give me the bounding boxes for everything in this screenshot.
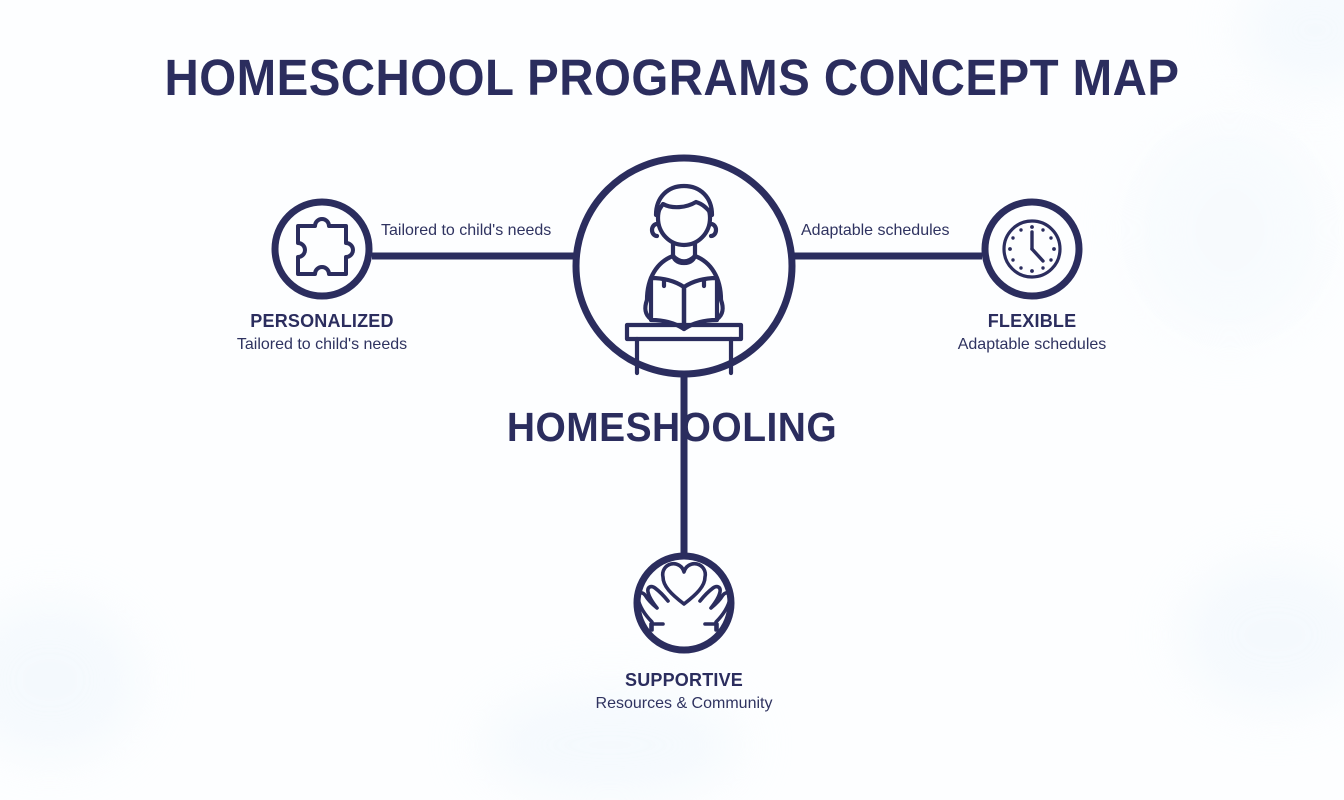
page-title: HOMESCHOOL PROGRAMS CONCEPT MAP	[47, 48, 1297, 107]
center-node-label: HOMESHOOLING	[34, 404, 1311, 451]
node-title-personalized: PERSONALIZED	[172, 310, 472, 333]
node-title-flexible: FLEXIBLE	[882, 310, 1182, 333]
concept-map-canvas: HOMESCHOOL PROGRAMS CONCEPT MAP Tailored…	[0, 0, 1344, 768]
node-title-supportive: SUPPORTIVE	[534, 669, 834, 692]
node-subtitle-flexible: Adaptable schedules	[882, 333, 1182, 356]
concept-map-graphics	[0, 0, 1344, 768]
node-caption-supportive: SUPPORTIVE Resources & Community	[534, 669, 834, 715]
edge-label-flexible: Adaptable schedules	[801, 222, 950, 240]
node-caption-flexible: FLEXIBLE Adaptable schedules	[882, 310, 1182, 356]
edge-label-personalized: Tailored to child's needs	[381, 222, 551, 240]
node-subtitle-supportive: Resources & Community	[534, 692, 834, 715]
node-caption-personalized: PERSONALIZED Tailored to child's needs	[172, 310, 472, 356]
node-subtitle-personalized: Tailored to child's needs	[172, 333, 472, 356]
